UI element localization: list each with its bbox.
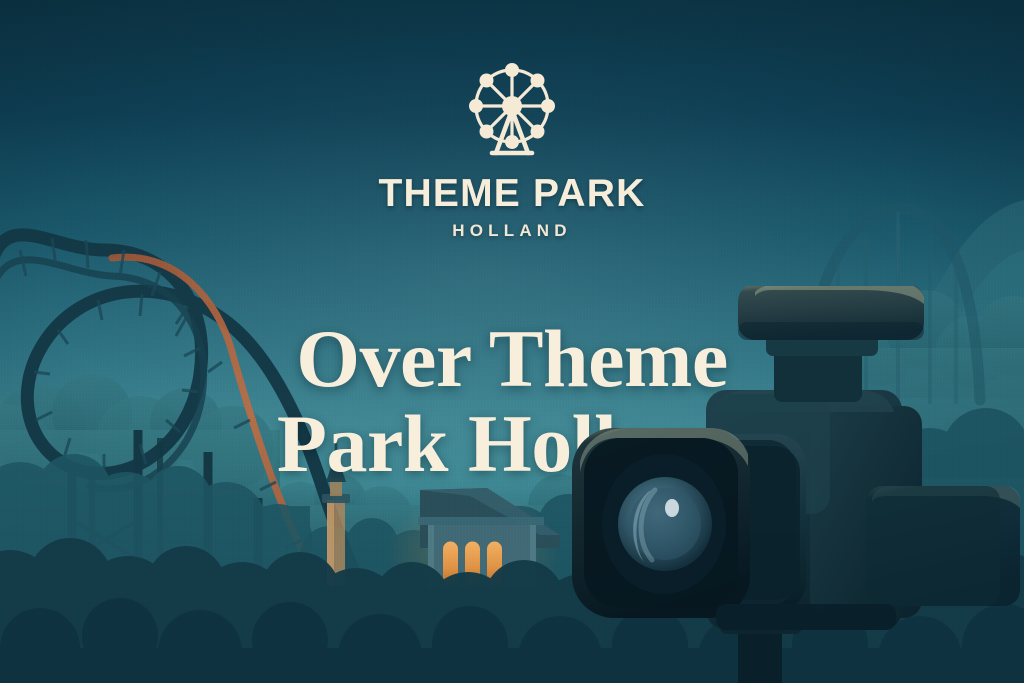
- brand-subtitle: HOLLAND: [452, 222, 572, 239]
- video-camera-icon: [560, 286, 1024, 683]
- poster-canvas: THEME PARK HOLLAND Over Theme Park Holla…: [0, 0, 1024, 683]
- brand-name: THEME PARK: [379, 174, 646, 213]
- ferris-wheel-icon: [460, 58, 564, 162]
- brand-lockup: THEME PARK HOLLAND: [0, 58, 1024, 239]
